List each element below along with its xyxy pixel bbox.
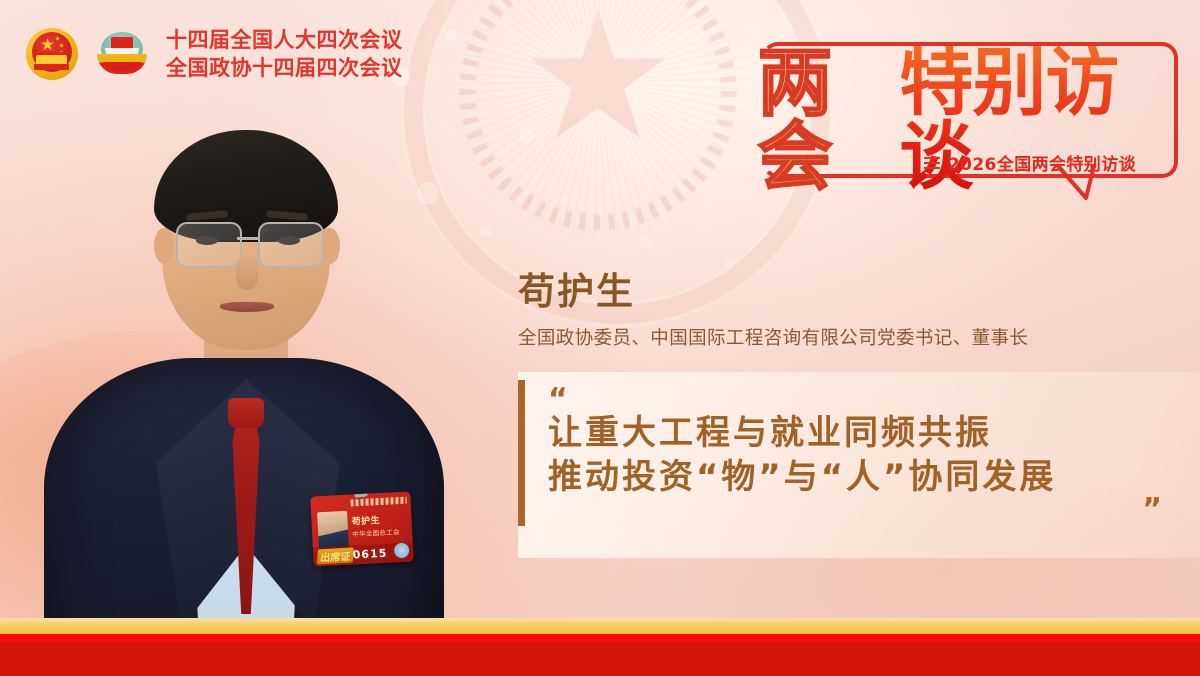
prc-national-emblem-icon: [22, 24, 82, 84]
masthead: 十四届全国人大四次会议 全国政协十四届四次会议: [22, 24, 403, 84]
program-logo: 两会 特别访谈 2026全国两会特别访谈: [732, 34, 1182, 194]
footer-gold-band: [0, 618, 1200, 635]
masthead-text: 十四届全国人大四次会议 全国政协十四届四次会议: [166, 26, 403, 82]
logo-word-lianghui: 两会: [758, 46, 899, 194]
badge-org: 中华全国总工会: [352, 526, 400, 538]
bokeh-dot: [480, 225, 492, 237]
logo-subtitle: 2026全国两会特别访谈: [948, 150, 1136, 175]
badge-name: 苟护生: [351, 513, 380, 527]
menu-lines-icon: [924, 157, 940, 169]
eyeglasses-icon: [176, 222, 242, 268]
quote-close-mark: ”: [518, 501, 1162, 519]
guest-name: 苟护生: [518, 272, 1178, 313]
bokeh-dot: [640, 236, 653, 249]
quote-open-mark: “: [548, 388, 1200, 412]
bokeh-dot: [560, 196, 569, 205]
cppcc-emblem-icon: [92, 24, 152, 84]
quote-accent-bar: [518, 380, 525, 526]
bokeh-dot: [446, 30, 457, 41]
badge-number: 0615: [352, 547, 387, 562]
quote-block: “ 让重大工程与就业同频共振 推动投资“物”与“人”协同发展 ”: [518, 372, 1200, 558]
bokeh-dot: [724, 258, 734, 268]
guest-role: 全国政协委员、中国国际工程咨询有限公司党委书记、董事长: [518, 324, 1178, 350]
quote-line-1: 让重大工程与就业同频共振: [548, 412, 1200, 456]
masthead-line-2: 全国政协十四届四次会议: [166, 54, 403, 82]
masthead-line-1: 十四届全国人大四次会议: [166, 26, 403, 54]
guest-portrait: 苟护生 中华全国总工会 出席证 0615: [44, 116, 444, 676]
guest-info: 苟护生 全国政协委员、中国国际工程咨询有限公司党委书记、董事长: [518, 272, 1178, 350]
footer-red-band: [0, 642, 1200, 676]
badge-photo: [317, 511, 349, 551]
logo-subtitle-row: 2026全国两会特别访谈: [924, 150, 1136, 175]
bokeh-dot: [520, 128, 534, 142]
conference-badge: 苟护生 中华全国总工会 出席证 0615: [310, 491, 414, 566]
badge-label: 出席证: [317, 547, 354, 564]
poster-canvas: 十四届全国人大四次会议 全国政协十四届四次会议 两会 特别访谈 2026全国两会…: [0, 0, 1200, 676]
badge-header-text: [350, 497, 406, 507]
quote-line-2: 推动投资“物”与“人”协同发展: [548, 456, 1200, 500]
